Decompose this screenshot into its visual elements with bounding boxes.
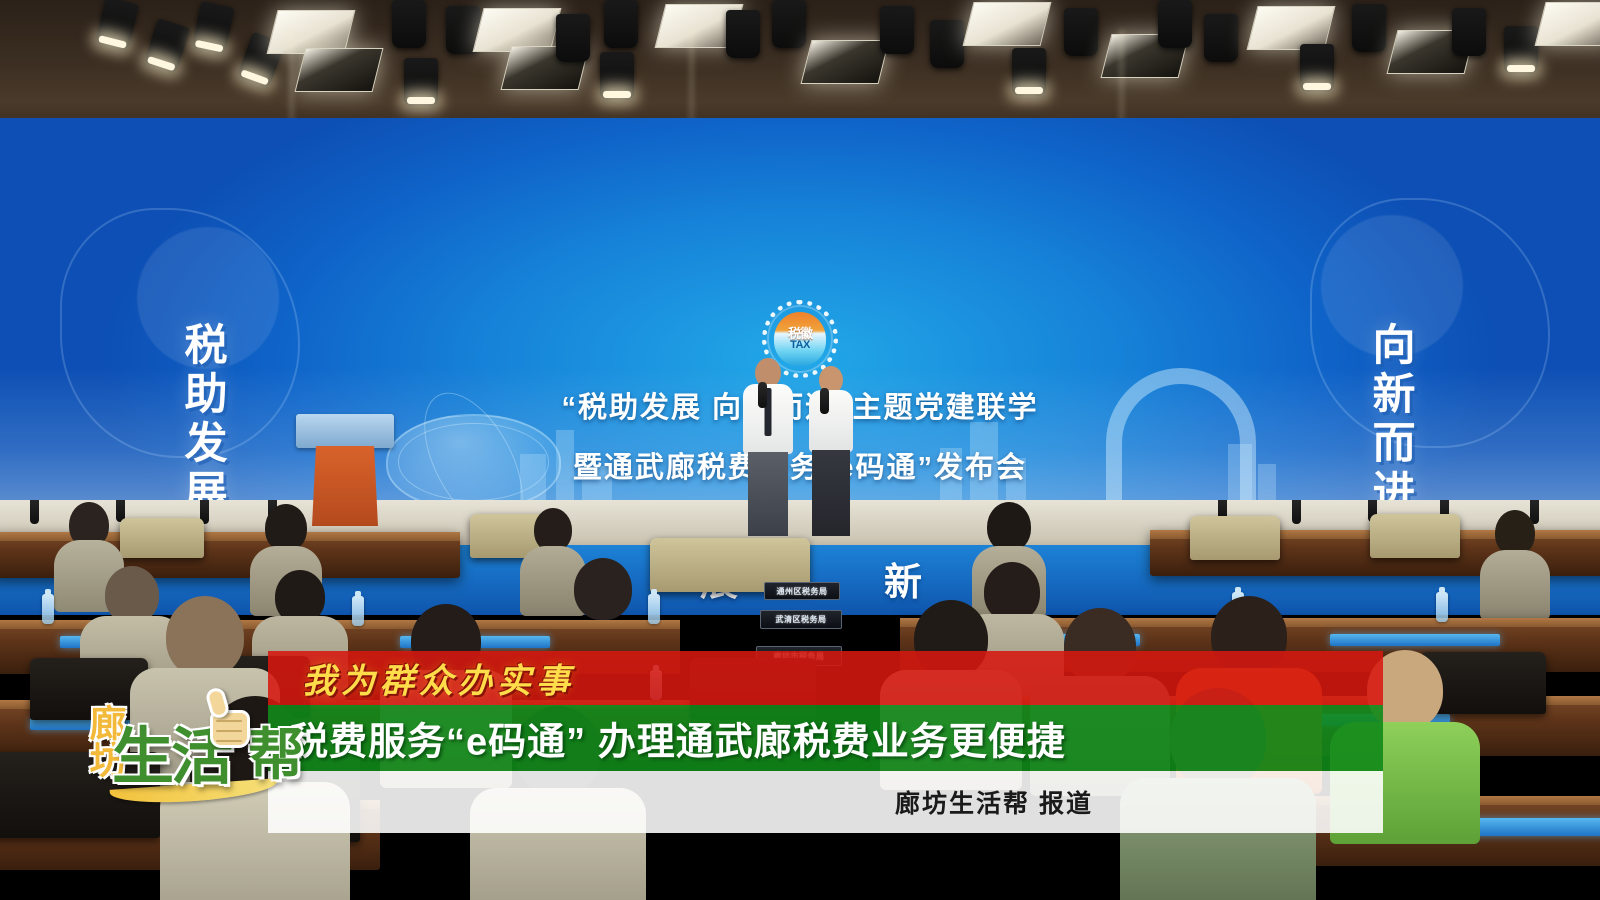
thumb-line <box>216 740 242 742</box>
person-head <box>987 502 1031 552</box>
handheld-microphone <box>820 388 829 414</box>
panel-light <box>295 48 384 92</box>
stage-light <box>1204 14 1238 62</box>
stage-light <box>1352 4 1386 52</box>
audience-chair <box>120 518 204 558</box>
person-body <box>1480 550 1550 620</box>
conference-microphone <box>1292 500 1301 524</box>
stage-light <box>1158 0 1192 48</box>
person-head <box>574 558 632 620</box>
lighting-truss <box>0 0 1600 128</box>
headline-text: 税费服务“e码通” 办理通武廊税费业务更便捷 <box>290 711 1066 766</box>
placard-label: 武清区税务局 <box>776 614 827 625</box>
placard-label: 通州区税务局 <box>777 586 828 597</box>
panel-light <box>1535 2 1600 46</box>
stage-side-text-right: 向新而进 <box>1340 322 1414 518</box>
thumb-line <box>216 720 242 722</box>
stage-light <box>880 6 914 54</box>
stage-light <box>143 18 190 74</box>
water-bottle <box>1436 592 1448 622</box>
panel-light <box>801 40 890 84</box>
podium-top <box>296 414 394 448</box>
stage-light <box>95 0 140 51</box>
stage-title-line1: “税助发展 向新而进”主题党建联学 <box>561 392 1038 424</box>
stage-light <box>392 0 426 48</box>
desk-placard: 通州区税务局 <box>764 582 840 600</box>
thumbs-up-icon <box>204 690 256 750</box>
stage-light <box>604 0 638 48</box>
desk-placard: 武清区税务局 <box>760 610 842 629</box>
audience-chair <box>1190 516 1280 560</box>
attribution-bar: 廊坊生活帮 报道 <box>268 771 1383 833</box>
headline-banner: 税费服务“e码通” 办理通武廊税费业务更便捷 <box>268 705 1383 771</box>
stage-light <box>930 20 964 68</box>
thumb-line <box>216 730 242 732</box>
stage-light <box>772 0 806 48</box>
stage-light <box>1504 26 1538 74</box>
stage-light <box>726 10 760 58</box>
audience-member <box>1480 510 1550 618</box>
water-bottle <box>42 594 54 624</box>
water-bottle <box>352 596 364 626</box>
channel-logo: 廊坊 生活 帮 <box>52 688 278 806</box>
audience-chair <box>1370 514 1460 558</box>
person-head <box>265 504 307 552</box>
stage-light <box>1012 48 1046 96</box>
stage-light <box>404 58 438 106</box>
presenter-torso <box>809 390 853 452</box>
stage-led-screen: 税徽 TAX “税助发展 向新而进”主题党建联学 暨通武廊税费服务“e码通”发布… <box>0 118 1600 518</box>
handheld-microphone <box>758 382 767 408</box>
stage-light <box>556 14 590 62</box>
campaign-banner-text: 我为群众办实事 <box>302 654 575 703</box>
conference-microphone <box>30 500 39 524</box>
desk-display <box>1330 634 1500 646</box>
stage-light <box>1064 8 1098 56</box>
stage-light <box>1300 44 1334 92</box>
broadcast-frame: 税徽 TAX “税助发展 向新而进”主题党建联学 暨通武廊税费服务“e码通”发布… <box>0 0 1600 900</box>
stage-light <box>600 52 634 100</box>
attribution-text: 廊坊生活帮 报道 <box>895 784 1093 820</box>
panel-light <box>963 2 1052 46</box>
person-head <box>166 596 244 678</box>
stage-light <box>1452 8 1486 56</box>
stage-light <box>191 1 234 55</box>
stage-side-text-left: 税助发展 <box>152 322 226 518</box>
campaign-banner: 我为群众办实事 <box>268 651 1383 705</box>
emblem-en-label: TAX <box>790 340 810 351</box>
